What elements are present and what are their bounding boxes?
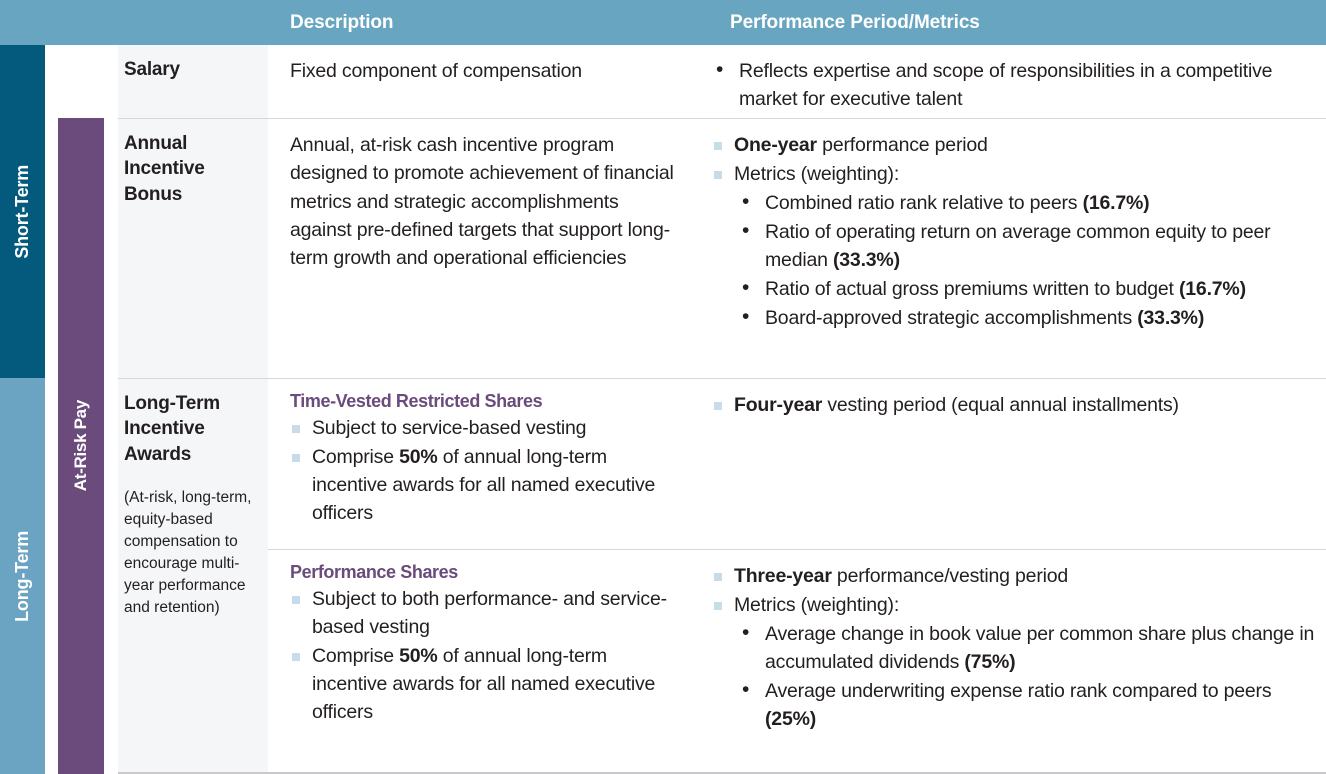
row-name-salary: Salary	[124, 57, 254, 82]
table-row-salary: Salary Fixed component of compensation R…	[118, 45, 1326, 118]
row-label-cell: Salary	[118, 45, 268, 118]
annual-incentive-description: Annual, at-risk cash incentive program d…	[290, 131, 682, 272]
row-description-cell: Annual, at-risk cash incentive program d…	[268, 118, 700, 378]
bullet-text-pre: Comprise	[312, 645, 399, 667]
category-label-long-term: Long-Term	[12, 531, 33, 622]
row-performance-cell: Reflects expertise and scope of responsi…	[700, 45, 1326, 118]
subblock-time-vested-restricted-shares: Time-Vested Restricted Shares Subject to…	[268, 379, 700, 549]
table-row-long-term-incentive-awards: Long-Term Incentive Awards (At-risk, lon…	[118, 378, 1326, 774]
list-item: Ratio of operating return on average com…	[738, 218, 1316, 274]
row-name-long-term-incentive-awards: Long-Term Incentive Awards	[124, 391, 254, 467]
perf-time-vested-restricted-shares: Four-year vesting period (equal annual i…	[700, 379, 1326, 549]
metric-text: Board-approved strategic accomplishments	[765, 307, 1137, 329]
list-item: Comprise 50% of annual long-term incenti…	[290, 642, 682, 726]
performance-shares-performance-list: Three-year performance/vesting period Me…	[712, 562, 1316, 619]
list-item: Comprise 50% of annual long-term incenti…	[290, 443, 682, 527]
subhead-performance-shares: Performance Shares	[290, 562, 682, 583]
metric-text: Combined ratio rank relative to peers	[765, 192, 1083, 214]
metric-text: Ratio of actual gross premiums written t…	[765, 278, 1179, 300]
performance-shares-metrics-list: Average change in book value per common …	[738, 620, 1316, 733]
list-item-performance-period: Three-year performance/vesting period	[712, 562, 1316, 590]
table-header-bar: Description Performance Period/Metrics	[0, 0, 1326, 45]
list-item: Board-approved strategic accomplishments…	[738, 304, 1316, 332]
category-bar-at-risk-pay: At-Risk Pay	[58, 118, 104, 774]
time-vested-performance-list: Four-year vesting period (equal annual i…	[712, 391, 1316, 419]
metric-weight: (33.3%)	[1137, 307, 1204, 329]
row-performance-cell: One-year performance period Metrics (wei…	[700, 118, 1326, 378]
metric-weight: (75%)	[964, 651, 1015, 673]
performance-period-value: Four-year	[734, 394, 822, 416]
row-description-cell: Time-Vested Restricted Shares Subject to…	[268, 378, 700, 774]
list-item: Average underwriting expense ratio rank …	[738, 677, 1316, 733]
category-label-short-term: Short-Term	[12, 165, 33, 259]
metric-text: Average change in book value per common …	[765, 623, 1314, 673]
annual-incentive-metrics-list: Combined ratio rank relative to peers (1…	[738, 189, 1316, 332]
table-body: Salary Fixed component of compensation R…	[118, 45, 1326, 774]
metric-weight: (33.3%)	[833, 249, 900, 271]
metric-weight: (16.7%)	[1083, 192, 1150, 214]
salary-performance-list: Reflects expertise and scope of responsi…	[712, 57, 1316, 113]
metric-text: Average underwriting expense ratio rank …	[765, 680, 1271, 702]
list-item: Reflects expertise and scope of responsi…	[712, 57, 1316, 113]
performance-period-value: Three-year	[734, 565, 832, 587]
row-performance-cell: Four-year vesting period (equal annual i…	[700, 378, 1326, 774]
time-vested-desc-list: Subject to service-based vesting Compris…	[290, 414, 682, 527]
performance-period-text: vesting period (equal annual installment…	[822, 394, 1179, 416]
subblock-performance-shares: Performance Shares Subject to both perfo…	[268, 549, 700, 726]
row-name-annual-incentive-bonus: Annual Incentive Bonus	[124, 131, 254, 207]
bullet-text-pre: Comprise	[312, 446, 399, 468]
category-bar-short-term: Short-Term	[0, 45, 45, 378]
metric-weight: (25%)	[765, 708, 816, 730]
list-item: Ratio of actual gross premiums written t…	[738, 275, 1316, 303]
bullet-text: Subject to service-based vesting	[312, 417, 586, 439]
annual-incentive-performance-list: One-year performance period Metrics (wei…	[712, 131, 1316, 188]
list-item-metrics-label: Metrics (weighting):	[712, 591, 1316, 619]
bullet-text: Subject to both performance- and service…	[312, 588, 667, 638]
list-item: Combined ratio rank relative to peers (1…	[738, 189, 1316, 217]
column-header-description: Description	[290, 0, 393, 45]
column-header-performance: Performance Period/Metrics	[730, 0, 980, 45]
perf-performance-shares: Three-year performance/vesting period Me…	[700, 549, 1326, 733]
list-item-metrics-label: Metrics (weighting):	[712, 160, 1316, 188]
list-item: Subject to both performance- and service…	[290, 585, 682, 641]
subhead-time-vested-restricted-shares: Time-Vested Restricted Shares	[290, 391, 682, 412]
category-bar-long-term: Long-Term	[0, 378, 45, 774]
table-row-annual-incentive-bonus: Annual Incentive Bonus Annual, at-risk c…	[118, 118, 1326, 378]
list-item: Subject to service-based vesting	[290, 414, 682, 442]
list-item-performance-period: One-year performance period	[712, 131, 1316, 159]
row-label-cell: Long-Term Incentive Awards (At-risk, lon…	[118, 378, 268, 774]
list-item: Average change in book value per common …	[738, 620, 1316, 676]
row-description-cell: Fixed component of compensation	[268, 45, 700, 118]
salary-description: Fixed component of compensation	[290, 57, 682, 85]
performance-period-value: One-year	[734, 134, 817, 156]
performance-period-text: performance period	[817, 134, 988, 156]
bullet-text-bold: 50%	[399, 446, 437, 468]
row-label-cell: Annual Incentive Bonus	[118, 118, 268, 378]
bullet-text-bold: 50%	[399, 645, 437, 667]
performance-period-text: performance/vesting period	[832, 565, 1068, 587]
compensation-elements-table: Description Performance Period/Metrics S…	[0, 0, 1326, 774]
category-label-at-risk-pay: At-Risk Pay	[71, 400, 91, 491]
performance-shares-desc-list: Subject to both performance- and service…	[290, 585, 682, 726]
list-item-performance-period: Four-year vesting period (equal annual i…	[712, 391, 1316, 419]
metric-weight: (16.7%)	[1179, 278, 1246, 300]
row-note-long-term: (At-risk, long-term, equity-based compen…	[124, 487, 254, 619]
